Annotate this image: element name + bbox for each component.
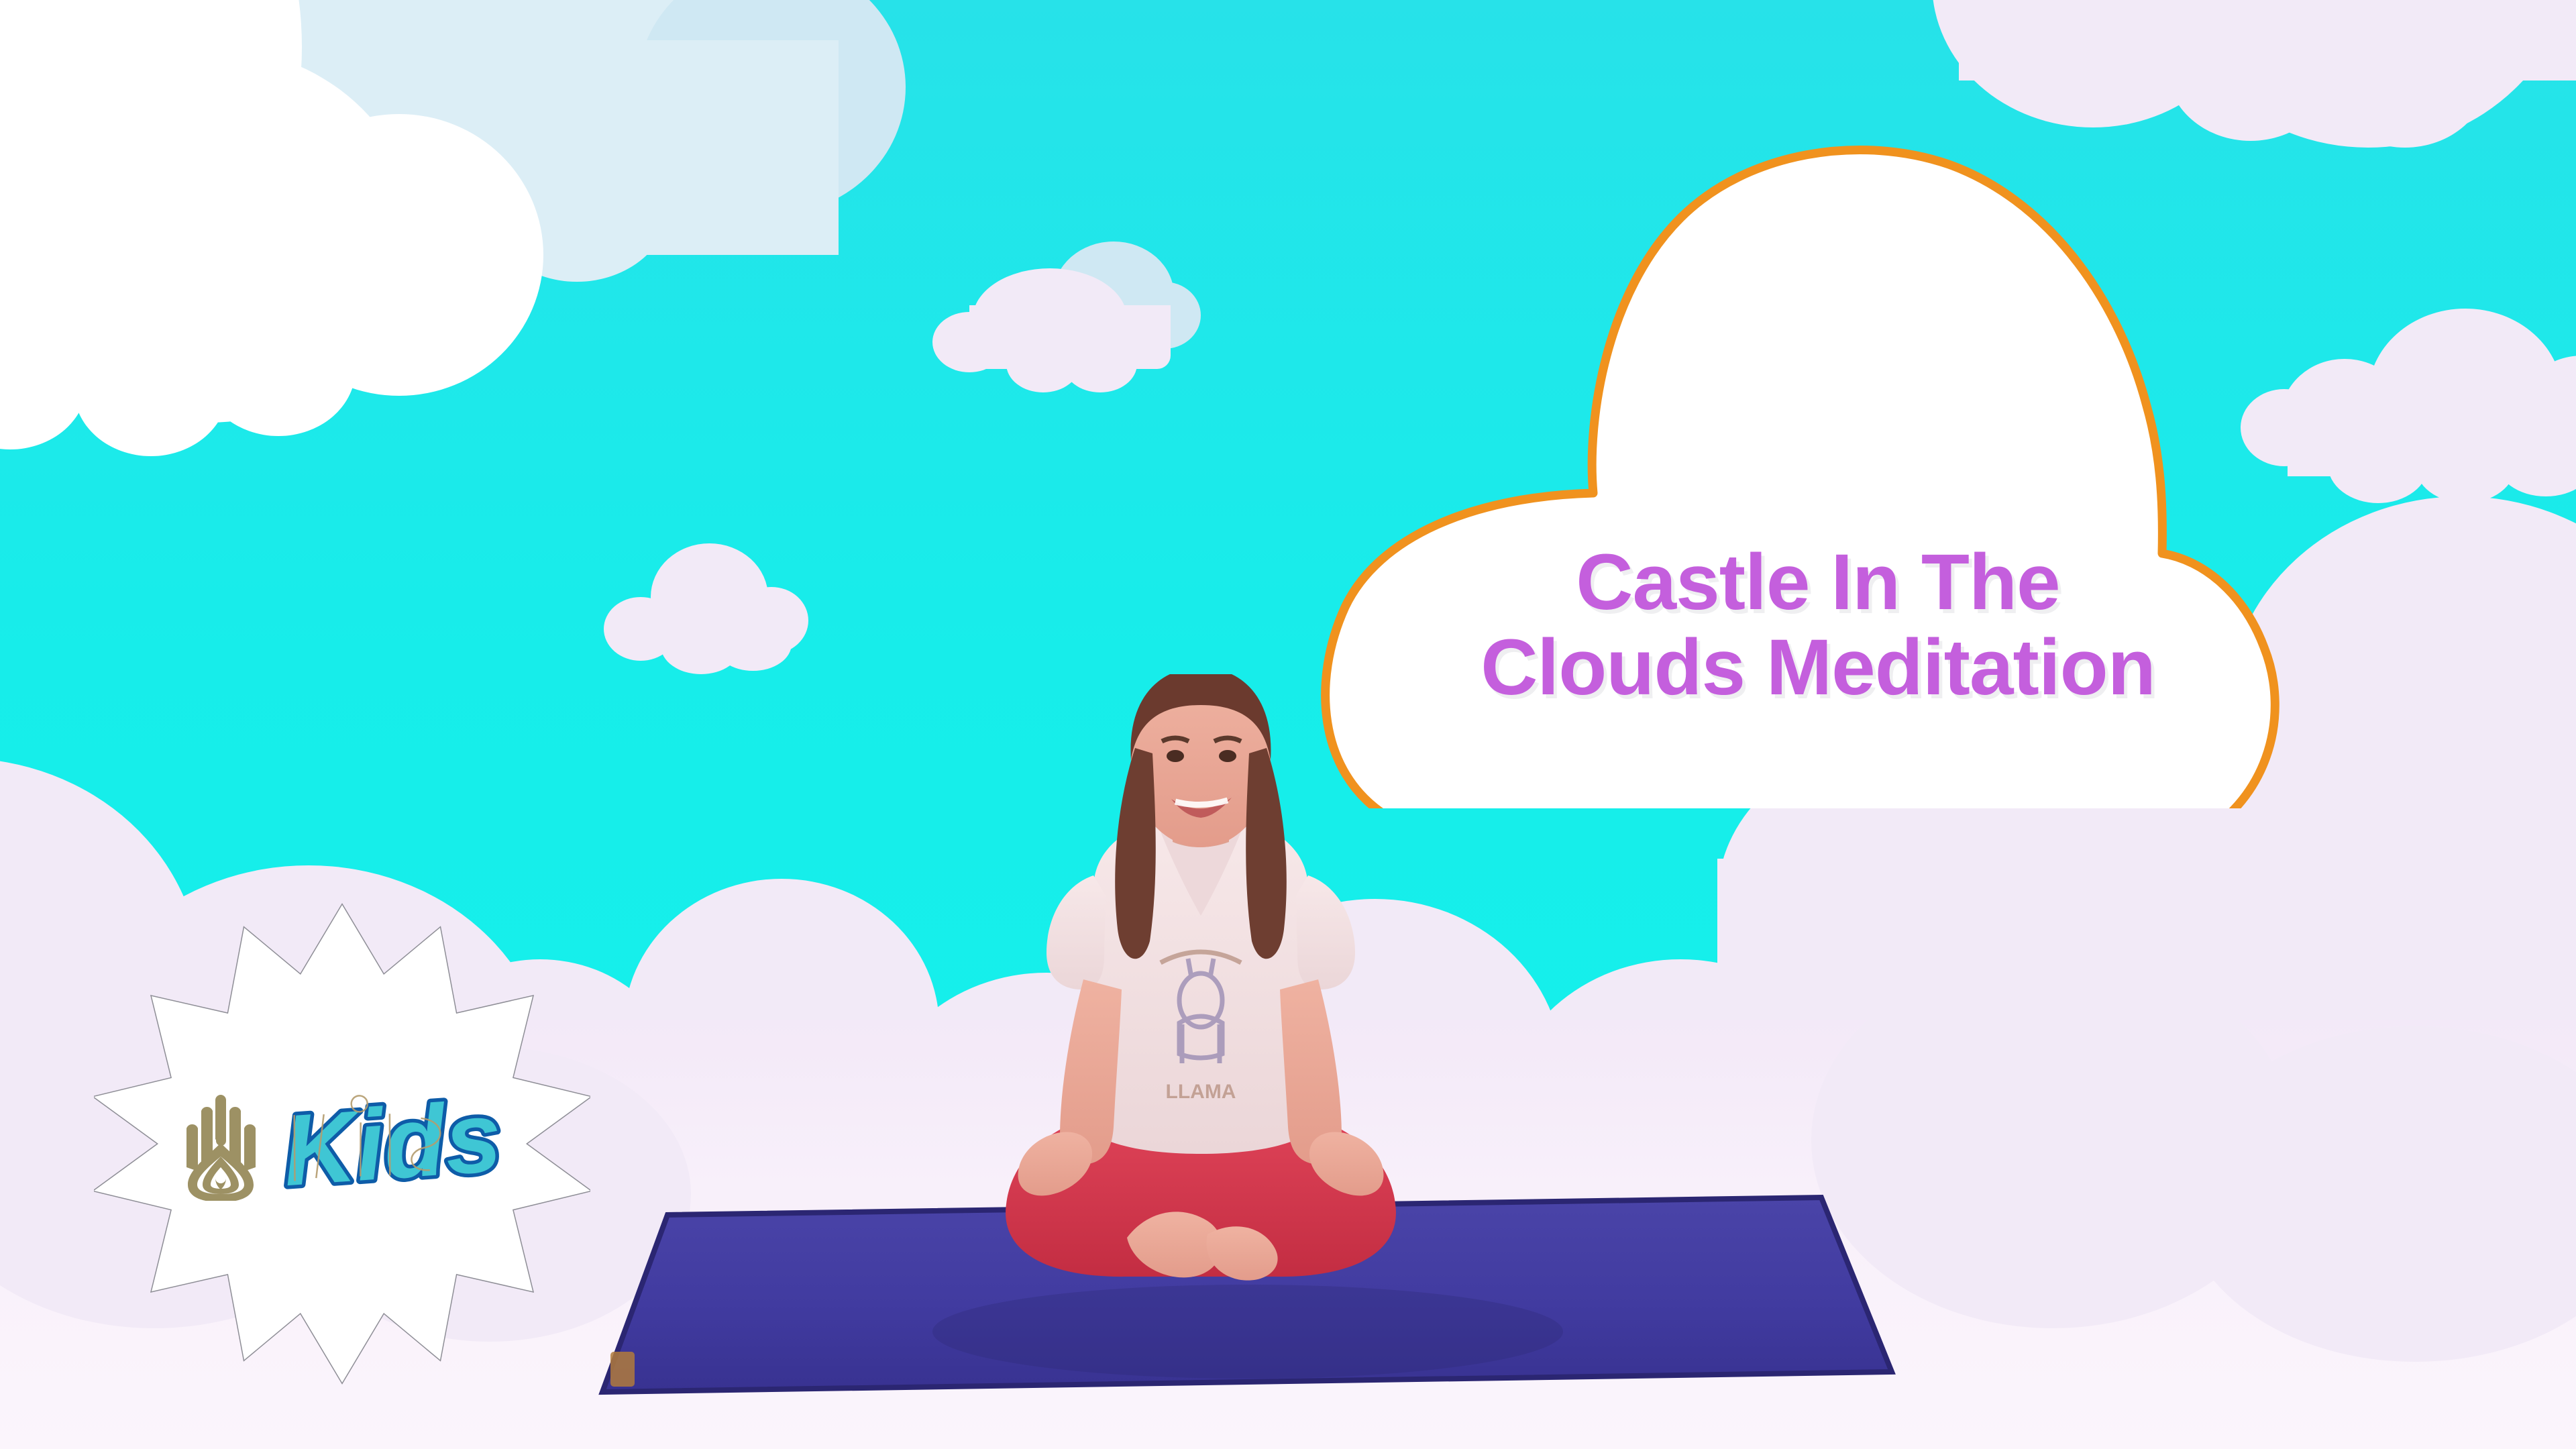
video-thumbnail: LLAMA: [0, 0, 2576, 1449]
lotus-hands-icon: [177, 1087, 264, 1201]
title-speech-bubble: Castle In The Clouds Meditation: [1305, 138, 2298, 808]
bubble-title-text: Castle In The Clouds Meditation: [1399, 540, 2237, 711]
svg-text:Kids: Kids: [279, 1080, 504, 1207]
svg-text:LLAMA: LLAMA: [1166, 1081, 1236, 1103]
kids-wordmark: Kids: [279, 1080, 507, 1207]
kids-brand-badge: Kids: [94, 896, 590, 1392]
